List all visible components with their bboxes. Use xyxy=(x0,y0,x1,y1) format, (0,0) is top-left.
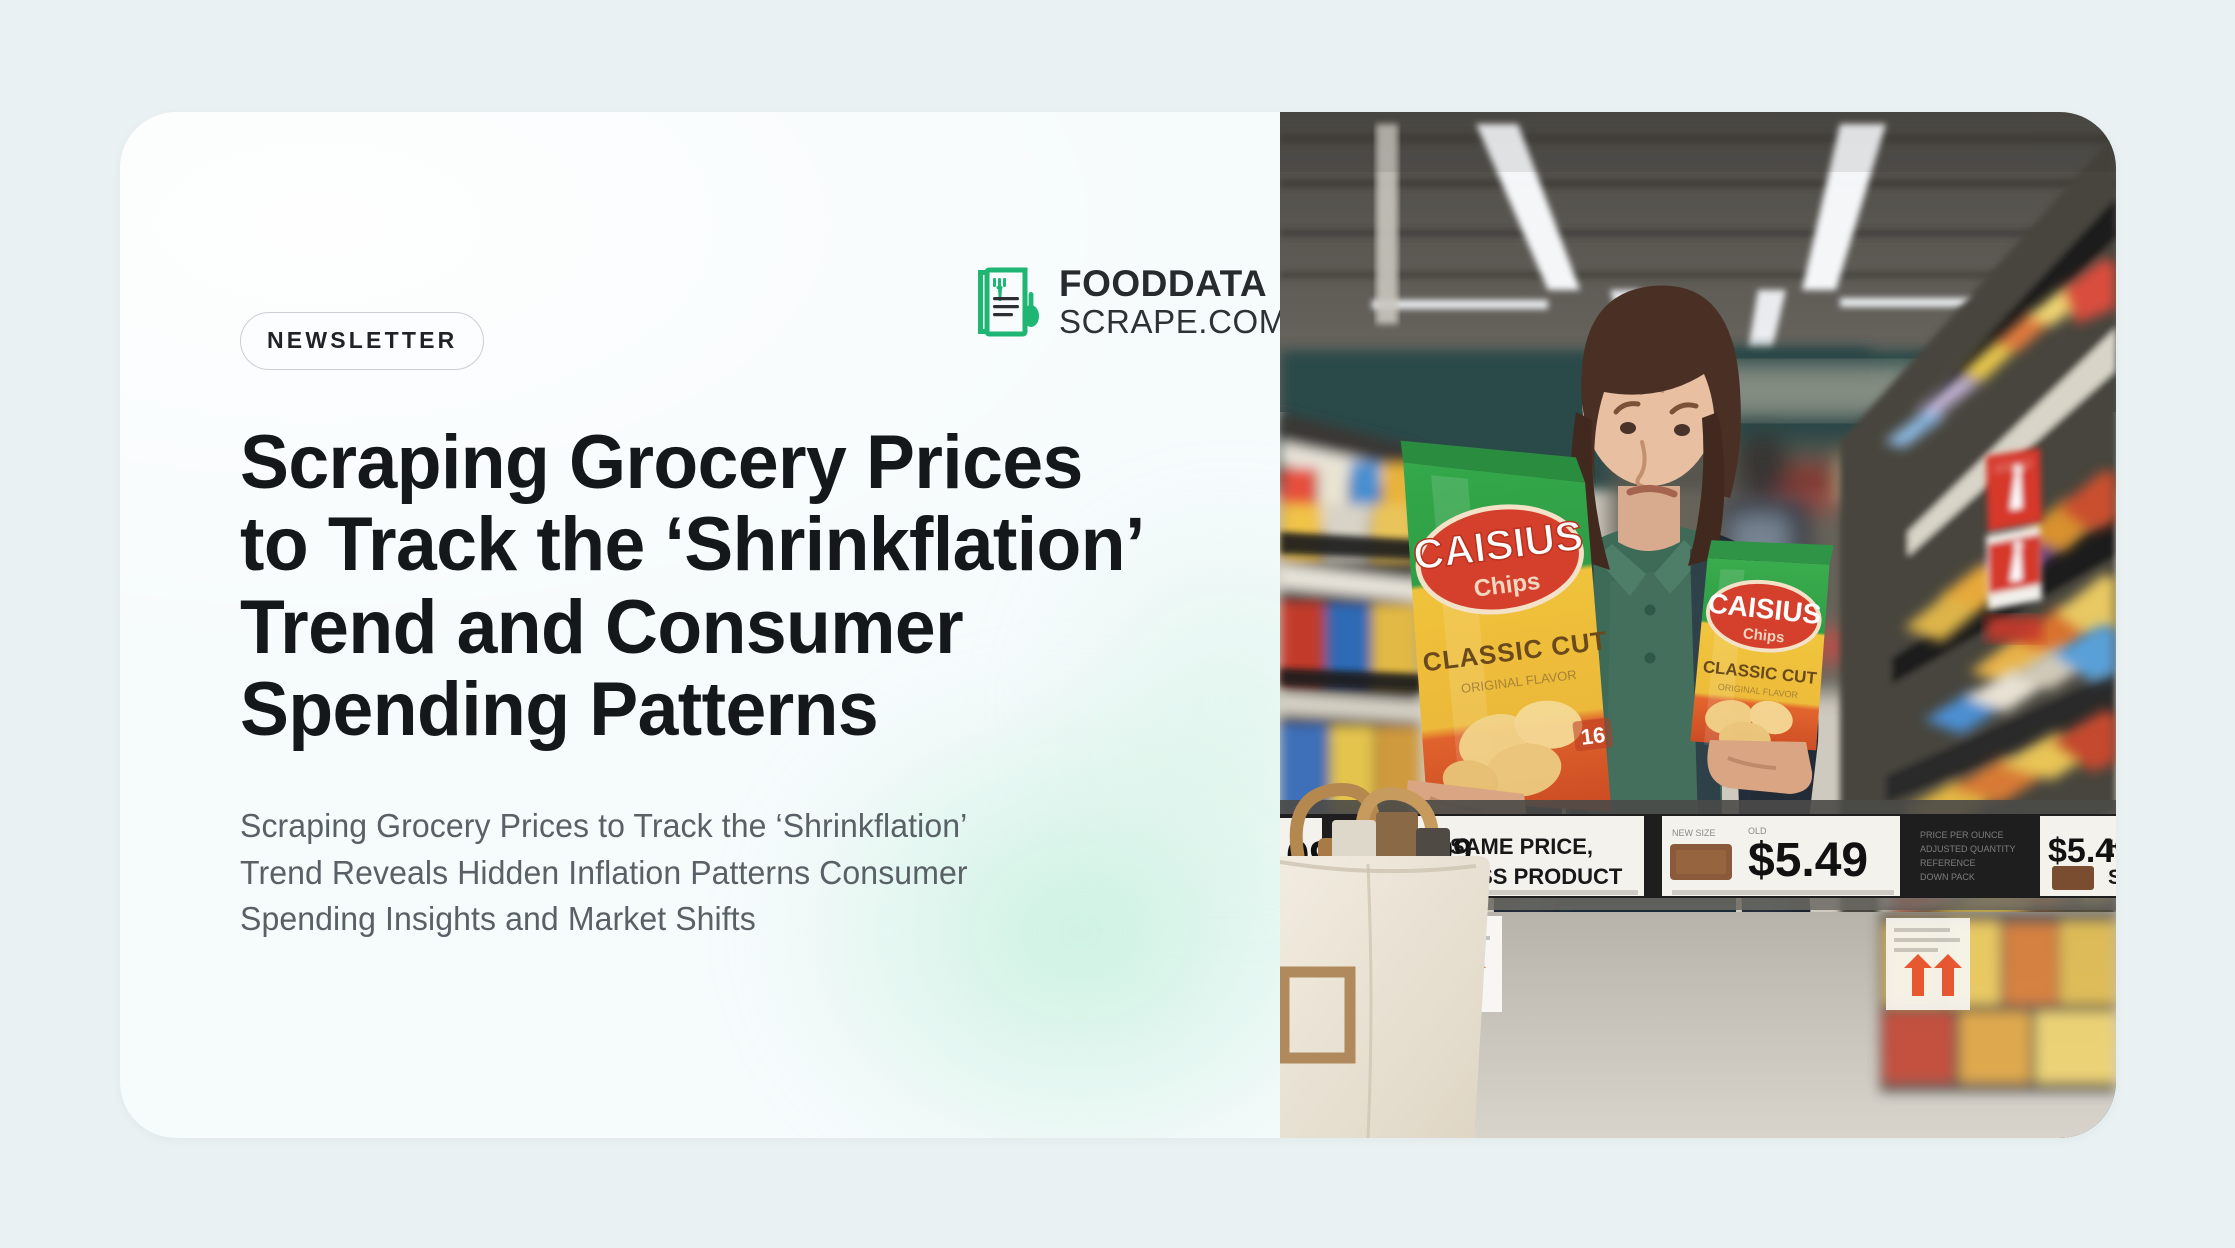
shelf-tag-1-line1: SAME PRICE, xyxy=(1450,834,1593,859)
hero-photo: CAISIUS Chips CLASSIC CUT ORIGINAL FLAVO… xyxy=(1280,112,2116,1138)
page-title: Scraping Grocery Prices to Track the ‘Sh… xyxy=(240,422,1263,752)
supermarket-aisle-illustration: CAISIUS Chips CLASSIC CUT ORIGINAL FLAVO… xyxy=(1280,112,2116,1138)
shelf-tag-3: $5.49 HIGHER PRICE SMALLER BAG xyxy=(2040,816,2116,896)
brand-name-primary: FOODDATA xyxy=(1059,266,1287,301)
shelf-tag-3-line1: HIGHER PRICE xyxy=(2108,836,2116,859)
page-subtitle: Scraping Grocery Prices to Track the ‘Sh… xyxy=(240,803,1268,944)
newsletter-badge[interactable]: NEWSLETTER xyxy=(240,312,484,370)
svg-text:ADJUSTED QUANTITY: ADJUSTED QUANTITY xyxy=(1920,844,2016,854)
shelf-tag-3-price: $5.49 xyxy=(2048,832,2116,870)
newsletter-card: FOODDATA SCRAPE.COM NEWSLETTER Scraping … xyxy=(120,112,2116,1138)
banner-root: FOODDATA SCRAPE.COM NEWSLETTER Scraping … xyxy=(0,0,2235,1248)
svg-text:DOWN PACK: DOWN PACK xyxy=(1920,872,1975,882)
svg-text:NEW SIZE: NEW SIZE xyxy=(1672,828,1716,838)
shelf-tag-2: NEW SIZE OLD $5.49 xyxy=(1662,816,1900,896)
shelf-tag-2-price: $5.49 xyxy=(1748,834,1868,887)
shelf-talker-right xyxy=(1886,918,1970,1010)
chip-bag-small: CAISIUS Chips CLASSIC CUT ORIGINAL FLAVO… xyxy=(1687,532,1837,763)
chip-bag-large-size: 16 xyxy=(1579,722,1606,750)
svg-text:REFERENCE: REFERENCE xyxy=(1920,858,1976,868)
svg-text:PRICE PER OUNCE: PRICE PER OUNCE xyxy=(1920,830,2004,840)
shelf-tag-3-line2: SMALLER BAG xyxy=(2108,866,2116,889)
content-column: NEWSLETTER Scraping Grocery Prices to Tr… xyxy=(240,312,1300,976)
